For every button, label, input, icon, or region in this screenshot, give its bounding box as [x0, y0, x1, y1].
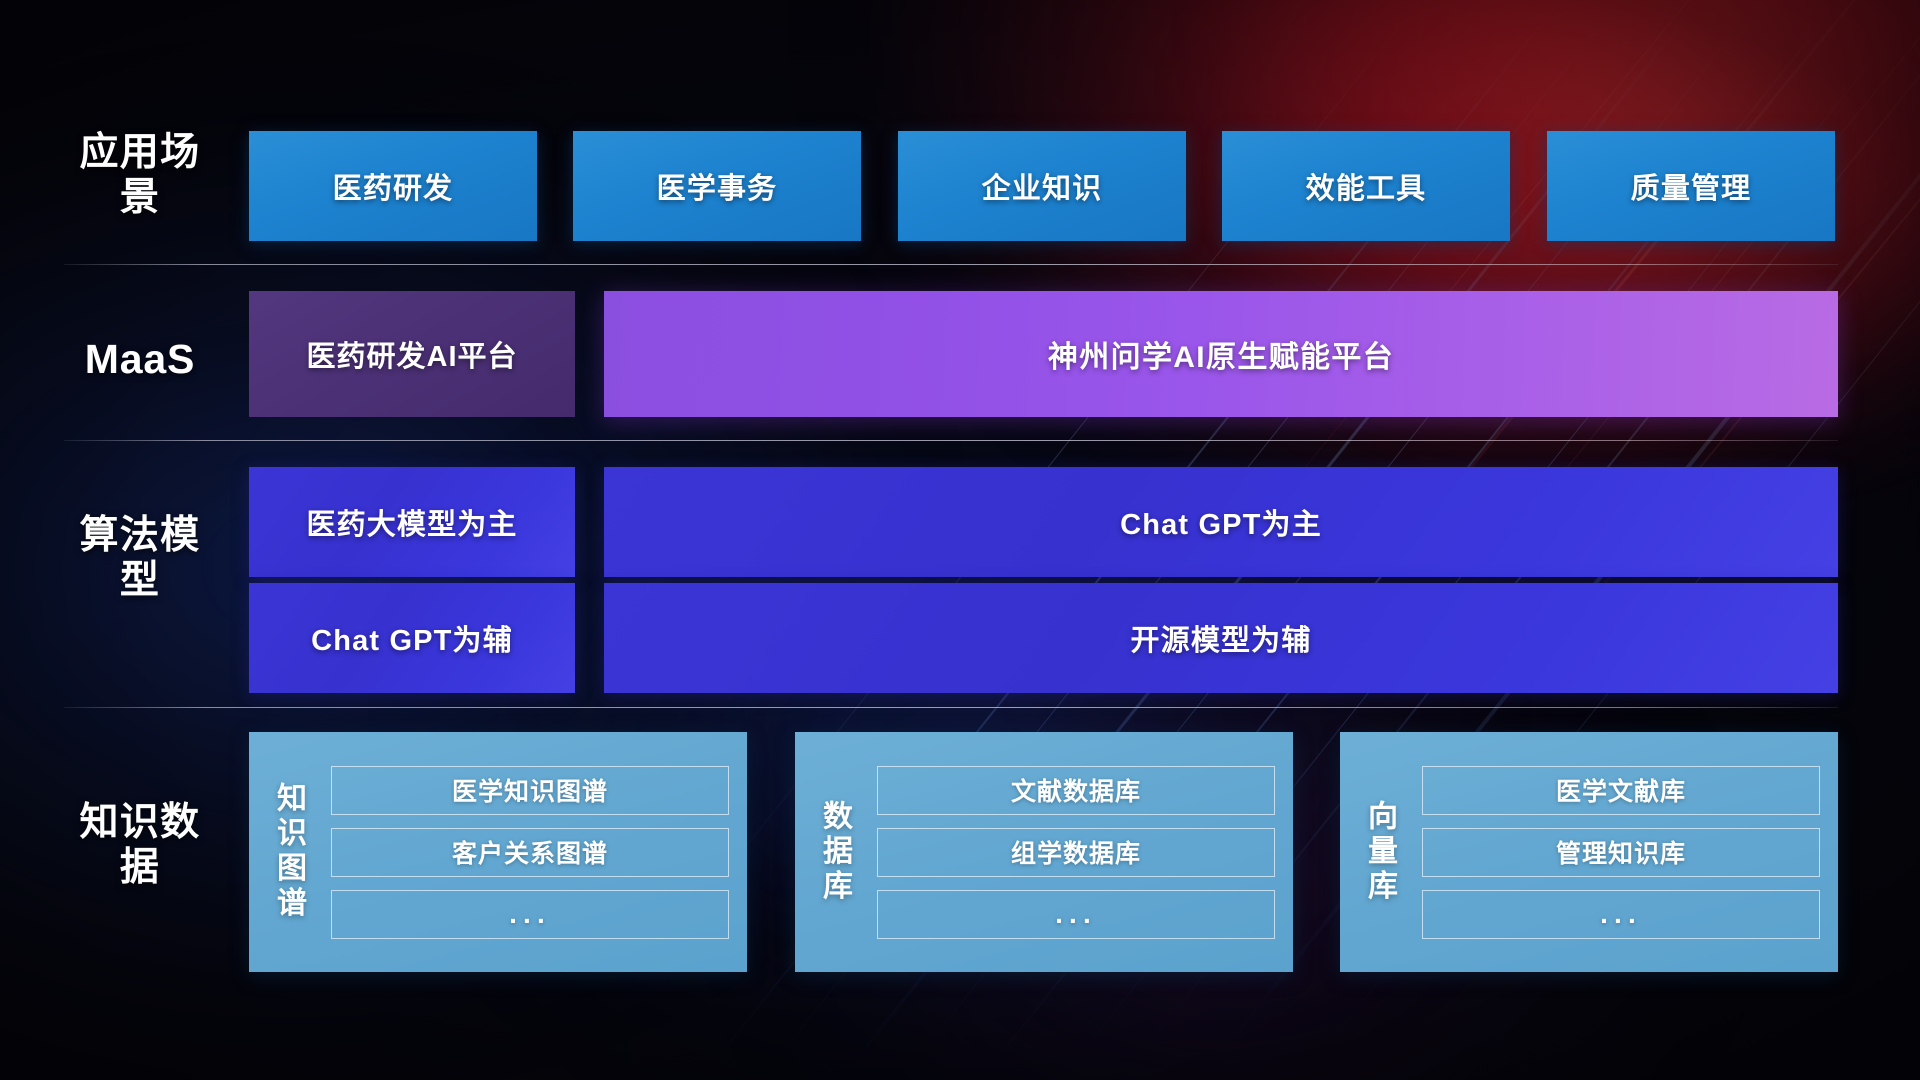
algo-cell-label-0: 医药大模型为主: [306, 501, 517, 543]
architecture-diagram: 应用场景 医药研发 医学事务 企业知识 效能工具 质量管理 MaaS 医药研发A…: [0, 0, 1920, 1080]
app-tile-1[interactable]: 医学事务: [573, 131, 861, 241]
knowledge-card-title-1: 数据库: [795, 732, 873, 972]
row-label-algorithm-models: 算法模型: [60, 513, 220, 603]
knowledge-chip-1-2[interactable]: ...: [877, 890, 1275, 939]
knowledge-chip-0-0[interactable]: 医学知识图谱: [331, 766, 729, 815]
divider-3: [64, 707, 1838, 708]
app-tile-label-0: 医药研发: [333, 165, 454, 207]
knowledge-card-0[interactable]: 知识图谱 医学知识图谱 客户关系图谱 ...: [249, 732, 747, 972]
app-tile-4[interactable]: 质量管理: [1547, 131, 1835, 241]
knowledge-card-items-2: 医学文献库 管理知识库 ...: [1418, 732, 1838, 972]
knowledge-card-2[interactable]: 向量库 医学文献库 管理知识库 ...: [1340, 732, 1838, 972]
row-label-maas: MaaS: [60, 336, 220, 384]
app-tile-label-3: 效能工具: [1306, 165, 1427, 207]
divider-1: [64, 264, 1838, 265]
knowledge-card-items-1: 文献数据库 组学数据库 ...: [873, 732, 1293, 972]
knowledge-card-items-0: 医学知识图谱 客户关系图谱 ...: [327, 732, 747, 972]
knowledge-chip-0-1[interactable]: 客户关系图谱: [331, 828, 729, 877]
algo-cell-label-2: Chat GPT为辅: [311, 617, 513, 659]
knowledge-chip-2-0[interactable]: 医学文献库: [1422, 766, 1820, 815]
knowledge-chip-1-1[interactable]: 组学数据库: [877, 828, 1275, 877]
maas-platform-right[interactable]: 神州问学AI原生赋能平台: [604, 291, 1838, 417]
app-tile-label-1: 医学事务: [657, 165, 778, 207]
knowledge-chip-2-2[interactable]: ...: [1422, 890, 1820, 939]
app-tile-label-4: 质量管理: [1631, 165, 1752, 207]
algo-cell-1[interactable]: Chat GPT为主: [604, 467, 1838, 577]
maas-platform-right-label: 神州问学AI原生赋能平台: [1048, 332, 1394, 376]
knowledge-chip-1-0[interactable]: 文献数据库: [877, 766, 1275, 815]
algo-cell-3[interactable]: 开源模型为辅: [604, 583, 1838, 693]
divider-2: [64, 440, 1838, 441]
app-tile-2[interactable]: 企业知识: [898, 131, 1186, 241]
maas-platform-left-label: 医药研发AI平台: [306, 333, 517, 375]
knowledge-chip-0-2[interactable]: ...: [331, 890, 729, 939]
app-tile-0[interactable]: 医药研发: [249, 131, 537, 241]
knowledge-card-1[interactable]: 数据库 文献数据库 组学数据库 ...: [795, 732, 1293, 972]
algo-cell-0[interactable]: 医药大模型为主: [249, 467, 575, 577]
app-tile-label-2: 企业知识: [982, 165, 1103, 207]
row-label-knowledge-data: 知识数据: [60, 800, 220, 890]
app-tile-3[interactable]: 效能工具: [1222, 131, 1510, 241]
knowledge-card-title-0: 知识图谱: [249, 732, 327, 972]
algo-cell-label-3: 开源模型为辅: [1131, 617, 1312, 659]
algo-cell-2[interactable]: Chat GPT为辅: [249, 583, 575, 693]
maas-platform-left[interactable]: 医药研发AI平台: [249, 291, 575, 417]
knowledge-card-title-2: 向量库: [1340, 732, 1418, 972]
algo-cell-label-1: Chat GPT为主: [1120, 501, 1322, 543]
knowledge-chip-2-1[interactable]: 管理知识库: [1422, 828, 1820, 877]
row-label-application-scenarios: 应用场景: [60, 130, 220, 220]
